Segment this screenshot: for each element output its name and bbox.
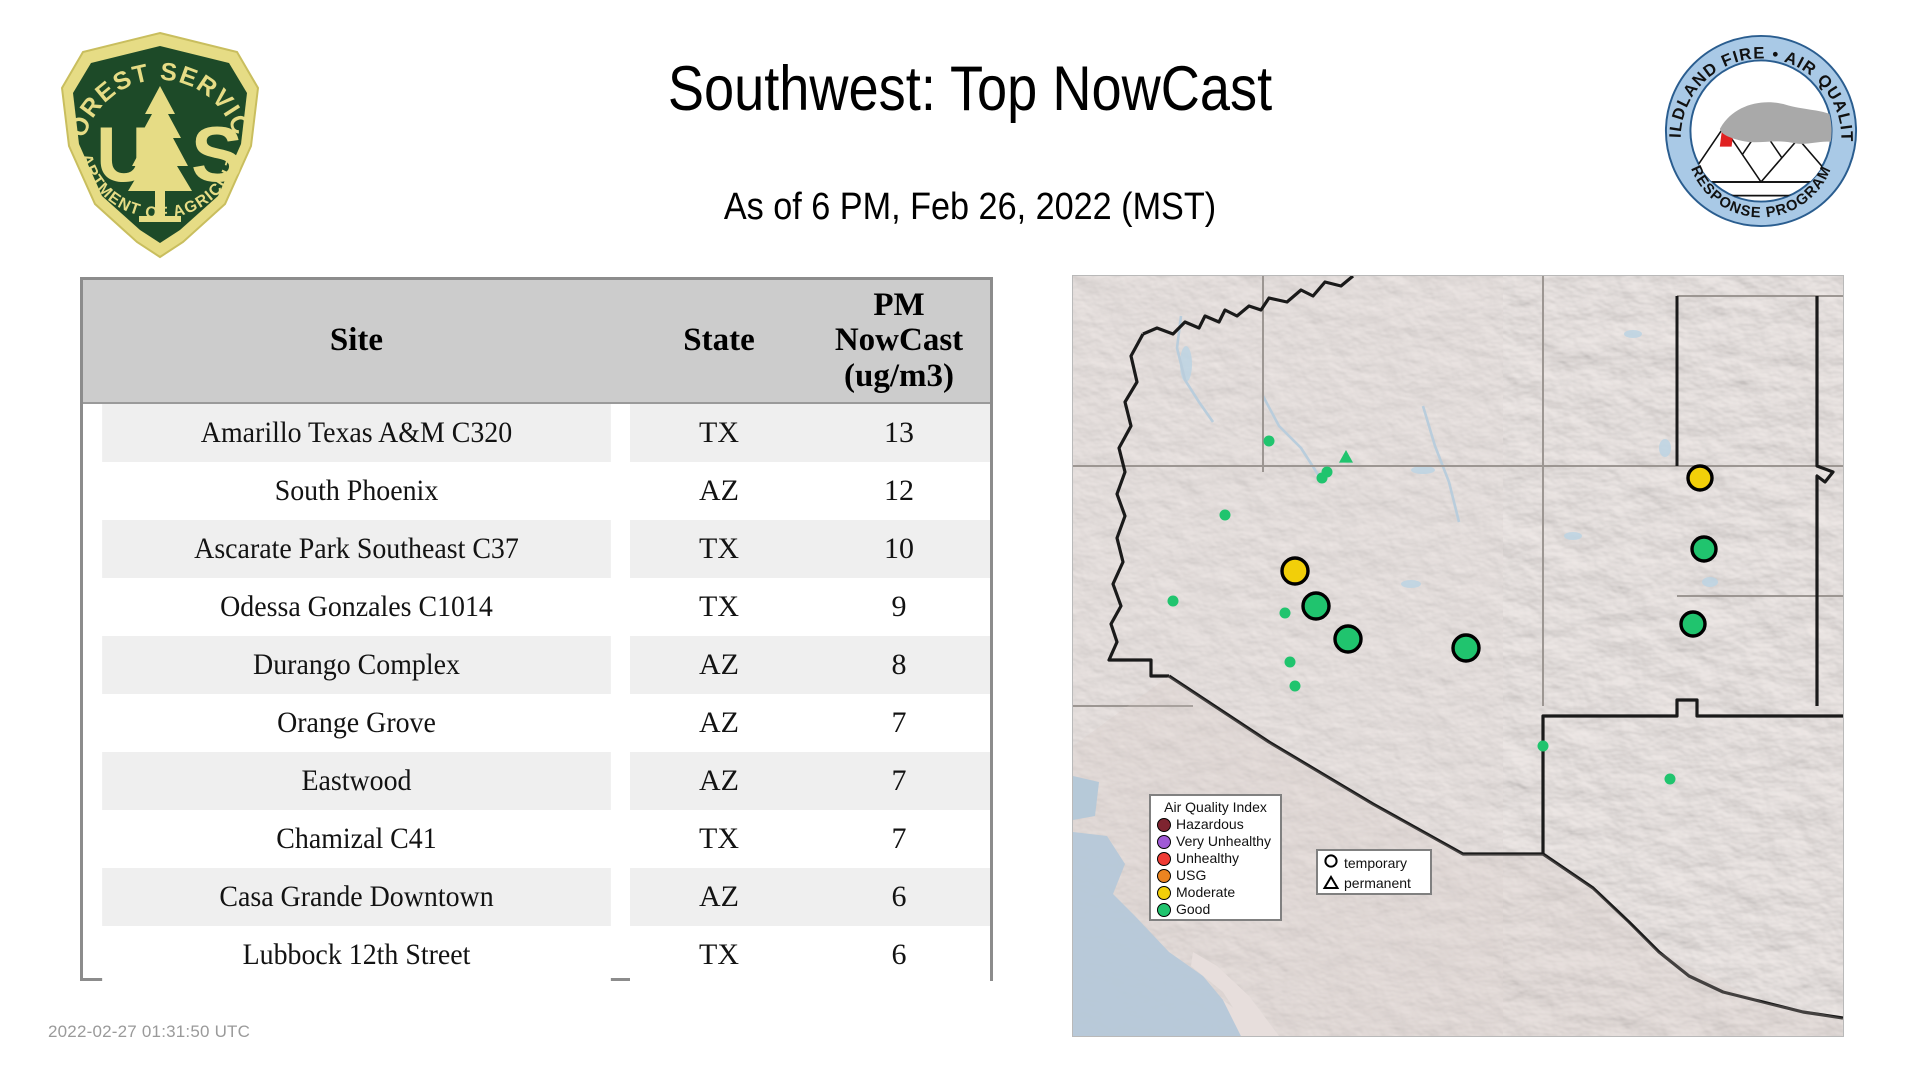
table-header-row: Site State PM NowCast (ug/m3) [83, 280, 990, 403]
map-monitor-marker[interactable] [1220, 510, 1231, 521]
map-top-site-marker[interactable] [1282, 558, 1308, 584]
cell-state: AZ [630, 462, 808, 520]
cell-site: Durango Complex [102, 636, 611, 694]
table-row[interactable]: Casa Grande DowntownAZ6 [83, 868, 990, 926]
cell-site: Odessa Gonzales C1014 [102, 578, 611, 636]
cell-state: AZ [630, 694, 808, 752]
table-row[interactable]: Durango ComplexAZ8 [83, 636, 990, 694]
map-monitor-marker[interactable] [1280, 608, 1291, 619]
col-header-site-label: Site [83, 323, 630, 359]
cell-site: Chamizal C41 [102, 810, 611, 868]
aqi-legend-label: Good [1176, 902, 1210, 917]
aqi-legend: Air Quality Index HazardousVery Unhealth… [1149, 794, 1282, 921]
cell-pm: 7 [808, 752, 990, 810]
map-monitor-marker[interactable] [1285, 657, 1296, 668]
nowcast-table: Site State PM NowCast (ug/m3) Amarillo T… [83, 280, 990, 984]
page-subtitle: As of 6 PM, Feb 26, 2022 (MST) [367, 188, 1573, 226]
map-monitor-marker[interactable] [1264, 436, 1275, 447]
table-row[interactable]: Odessa Gonzales C1014TX9 [83, 578, 990, 636]
legend-label-permanent: permanent [1344, 875, 1411, 891]
page-header: FOREST SERVICE DEPARTMENT OF AGRICULTURE… [0, 0, 1920, 262]
col-header-site[interactable]: Site [83, 280, 630, 403]
aqi-swatch-icon [1157, 869, 1171, 883]
table-row[interactable]: EastwoodAZ7 [83, 752, 990, 810]
cell-state: TX [630, 520, 808, 578]
table-body: Amarillo Texas A&M C320TX13South Phoenix… [83, 403, 990, 984]
cell-state: TX [630, 578, 808, 636]
cell-site: Amarillo Texas A&M C320 [102, 403, 611, 462]
triangle-icon [1322, 874, 1340, 892]
cell-pm: 9 [808, 578, 990, 636]
aqi-legend-item: USG [1157, 867, 1274, 884]
legend-row-temporary: temporary [1322, 853, 1426, 873]
col-header-pm-line3: (ug/m3) [808, 359, 990, 395]
footer-timestamp: 2022-02-27 01:31:50 UTC [48, 1022, 250, 1042]
aqi-legend-item: Moderate [1157, 884, 1274, 901]
aqi-swatch-icon [1157, 852, 1171, 866]
cell-site: Ascarate Park Southeast C37 [102, 520, 611, 578]
cell-pm: 6 [808, 868, 990, 926]
cell-site: South Phoenix [102, 462, 611, 520]
aqi-legend-label: USG [1176, 868, 1206, 883]
aqi-legend-item: Very Unhealthy [1157, 833, 1274, 850]
cell-pm: 7 [808, 694, 990, 752]
table-row[interactable]: Amarillo Texas A&M C320TX13 [83, 403, 990, 462]
col-header-pm-line1: PM [808, 288, 990, 324]
aqi-swatch-icon [1157, 818, 1171, 832]
aqi-legend-title: Air Quality Index [1157, 799, 1274, 815]
map-top-site-marker[interactable] [1692, 537, 1716, 561]
aqi-legend-label: Very Unhealthy [1176, 834, 1271, 849]
legend-label-temporary: temporary [1344, 855, 1407, 871]
table-row[interactable]: South PhoenixAZ12 [83, 462, 990, 520]
cell-pm: 10 [808, 520, 990, 578]
col-header-state[interactable]: State [630, 280, 808, 403]
aqi-legend-item: Unhealthy [1157, 850, 1274, 867]
map-monitor-marker[interactable] [1168, 596, 1179, 607]
legend-row-permanent: permanent [1322, 873, 1426, 893]
cell-pm: 6 [808, 926, 990, 984]
wfaqrp-logo: WILDLAND FIRE • AIR QUALITY RESPONSE PRO… [1663, 33, 1859, 229]
map-monitor-marker[interactable] [1665, 774, 1676, 785]
cell-pm: 13 [808, 403, 990, 462]
cell-site: Eastwood [102, 752, 611, 810]
cell-state: TX [630, 810, 808, 868]
table-row[interactable]: Lubbock 12th StreetTX6 [83, 926, 990, 984]
cell-site: Casa Grande Downtown [102, 868, 611, 926]
table-row[interactable]: Ascarate Park Southeast C37TX10 [83, 520, 990, 578]
cell-pm: 8 [808, 636, 990, 694]
cell-pm: 12 [808, 462, 990, 520]
cell-state: AZ [630, 752, 808, 810]
usfs-logo: FOREST SERVICE DEPARTMENT OF AGRICULTURE… [55, 26, 265, 261]
aqi-legend-label: Unhealthy [1176, 851, 1239, 866]
col-header-state-label: State [630, 323, 808, 359]
map-monitor-marker[interactable] [1290, 681, 1301, 692]
cell-state: AZ [630, 636, 808, 694]
aqi-legend-label: Hazardous [1176, 817, 1244, 832]
map-top-site-marker[interactable] [1681, 612, 1705, 636]
map-top-site-marker[interactable] [1453, 635, 1479, 661]
aqi-swatch-icon [1157, 886, 1171, 900]
circle-icon [1322, 854, 1340, 872]
cell-state: TX [630, 926, 808, 984]
aqi-legend-label: Moderate [1176, 885, 1235, 900]
map-monitor-marker[interactable] [1322, 467, 1333, 478]
map-top-site-marker[interactable] [1335, 626, 1361, 652]
aqi-swatch-icon [1157, 835, 1171, 849]
map-top-site-marker[interactable] [1688, 466, 1712, 490]
aqi-swatch-icon [1157, 903, 1171, 917]
usfs-letter-s: S [191, 110, 243, 198]
aqi-legend-item: Hazardous [1157, 816, 1274, 833]
col-header-pm-nowcast[interactable]: PM NowCast (ug/m3) [808, 280, 990, 403]
cell-site: Orange Grove [102, 694, 611, 752]
map-top-site-marker[interactable] [1303, 593, 1329, 619]
map-monitor-marker[interactable] [1538, 741, 1549, 752]
cell-state: AZ [630, 868, 808, 926]
table-row[interactable]: Chamizal C41TX7 [83, 810, 990, 868]
aqi-legend-rows: HazardousVery UnhealthyUnhealthyUSGModer… [1157, 816, 1274, 918]
cell-state: TX [630, 403, 808, 462]
page-title: Southwest: Top NowCast [394, 58, 1546, 121]
map-canvas[interactable] [1073, 276, 1843, 1036]
air-quality-map[interactable]: Air Quality Index HazardousVery Unhealth… [1072, 275, 1844, 1037]
nowcast-table-container: Site State PM NowCast (ug/m3) Amarillo T… [80, 277, 993, 981]
aqi-legend-item: Good [1157, 901, 1274, 918]
cell-site: Lubbock 12th Street [102, 926, 611, 984]
col-header-pm-line2: NowCast [808, 323, 990, 359]
table-row[interactable]: Orange GroveAZ7 [83, 694, 990, 752]
cell-pm: 7 [808, 810, 990, 868]
monitor-type-legend: temporary permanent [1316, 849, 1432, 895]
